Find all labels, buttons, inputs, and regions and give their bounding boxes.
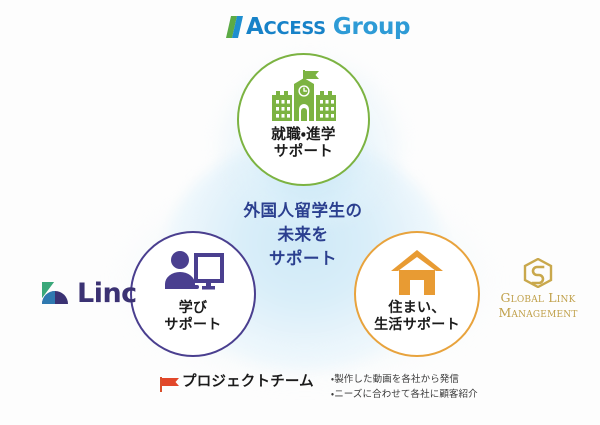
center-headline-line2: 未来を: [222, 223, 384, 247]
school-building-icon: [268, 69, 340, 121]
node-career-label-line1: 就職・進学: [271, 127, 335, 144]
person-at-screen-icon: [162, 249, 224, 295]
project-team-bullet-1: ・製作した動画を各社から発信: [331, 373, 478, 388]
project-team-note: プロジェクトチーム ・製作した動画を各社から発信 ・ニーズに合わせて各社に顧客紹…: [160, 372, 478, 402]
center-headline: 外国人留学生の 未来を サポート: [222, 199, 384, 271]
project-team-bullet-2: ・ニーズに合わせて各社に顧客紹介: [331, 388, 478, 403]
linc-logo: Linc: [40, 278, 137, 308]
node-career-support[interactable]: 就職・進学 サポート: [237, 53, 370, 186]
node-learning-label-line1: 学び: [164, 300, 221, 317]
center-headline-line3: サポート: [222, 247, 384, 271]
glm-name-line2: Management: [486, 305, 590, 320]
node-learning-label: 学び サポート: [164, 300, 221, 333]
node-living-label-line1: 住まい、: [374, 300, 460, 317]
global-link-management-wordmark: Global Link Management: [486, 290, 590, 321]
logo-text-ccess: CCESS: [264, 20, 326, 38]
linc-wordmark: Linc: [77, 280, 137, 307]
logo-letter-a: A: [246, 16, 264, 39]
global-link-hex-icon: [523, 258, 553, 288]
center-headline-line1: 外国人留学生の: [222, 199, 384, 223]
node-career-label-line2: サポート: [271, 144, 335, 161]
access-group-logo: ACCESS Group: [226, 12, 410, 42]
glm-name-line1: Global Link: [486, 290, 590, 305]
node-career-label: 就職・進学 サポート: [271, 127, 335, 161]
red-flag-icon: [160, 376, 180, 392]
project-team-bullets: ・製作した動画を各社から発信 ・ニーズに合わせて各社に顧客紹介: [331, 373, 478, 402]
global-link-management-logo: Global Link Management: [486, 258, 590, 321]
double-slash-icon: [226, 16, 243, 38]
node-living-label-line2: 生活サポート: [374, 317, 460, 334]
access-group-wordmark: ACCESS Group: [246, 16, 410, 39]
logo-text-group: Group: [333, 16, 410, 39]
house-icon: [390, 249, 444, 295]
node-living-label: 住まい、 生活サポート: [374, 300, 460, 333]
project-team-label: プロジェクトチーム: [182, 372, 314, 394]
infographic-canvas: ACCESS Group: [0, 0, 600, 425]
linc-mark-icon: [40, 278, 70, 308]
node-learning-label-line2: サポート: [164, 317, 221, 334]
